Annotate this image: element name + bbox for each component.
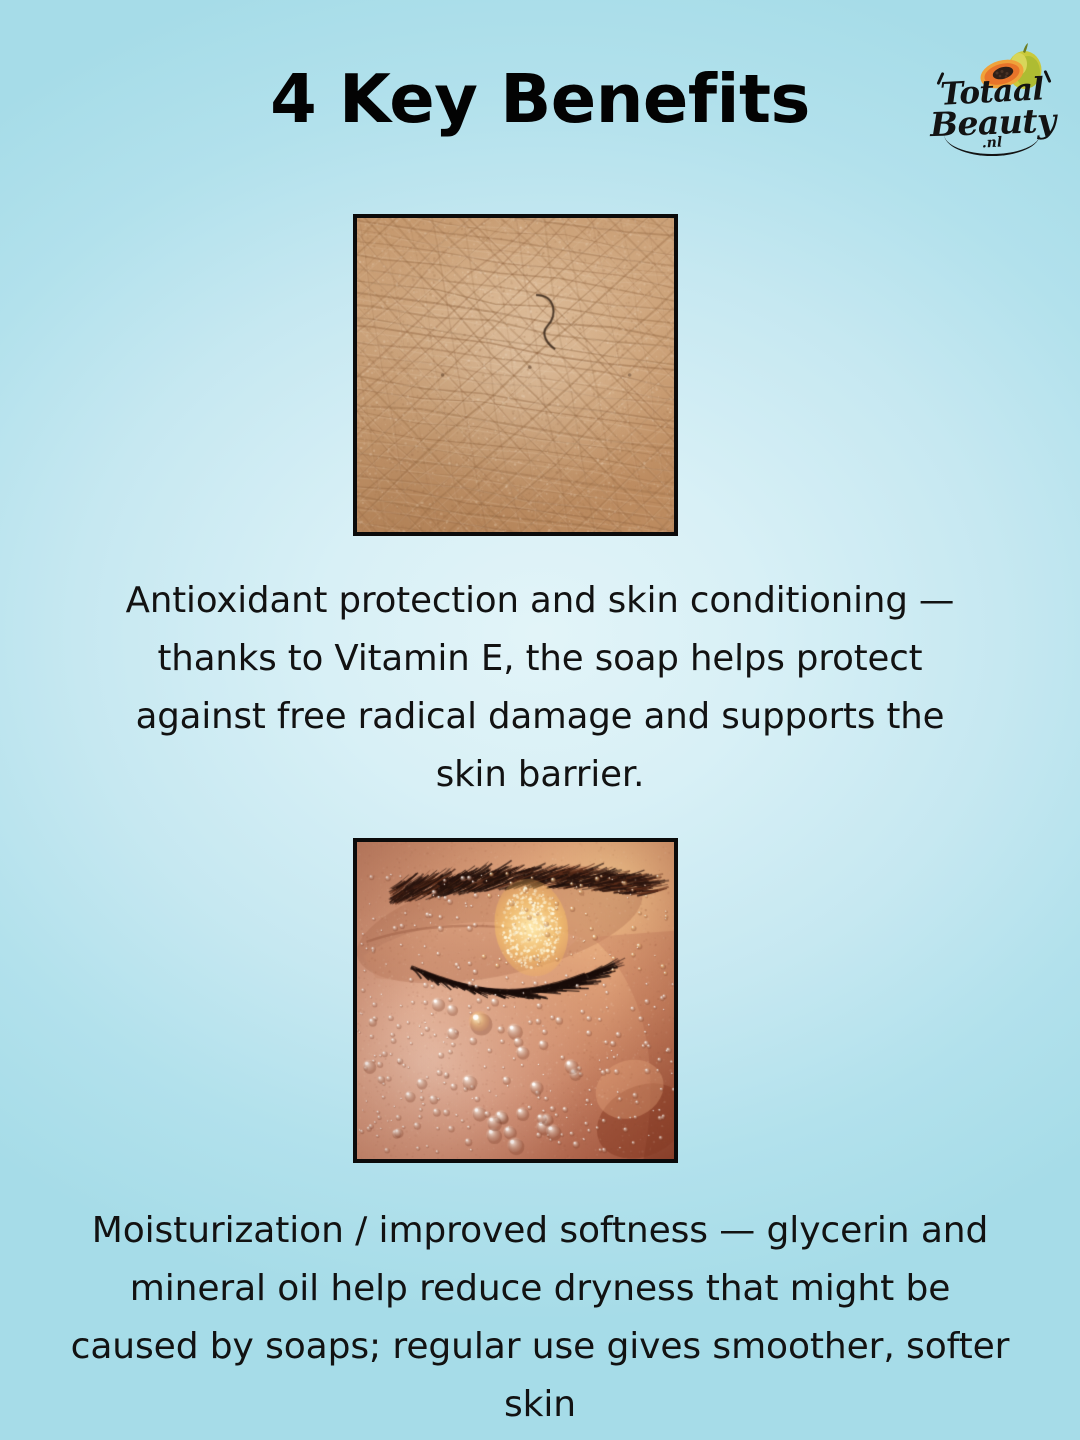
eye-with-water-droplets-photo [353,838,678,1163]
skin-texture-canvas [357,218,674,532]
poster-header: 4 Key Benefits Totaal Be [0,0,1080,200]
eye-droplets-canvas [357,842,674,1159]
brand-logo[interactable]: Totaal Beauty .nl [930,42,1054,166]
benefit-1-description: Antioxidant protection and skin conditio… [0,572,1080,804]
skin-texture-macro-photo [353,214,678,536]
page-title: 4 Key Benefits [0,66,1080,133]
benefit-2-description: Moisturization / improved softness — gly… [0,1202,1080,1434]
poster-canvas: 4 Key Benefits Totaal Be [0,0,1080,1440]
